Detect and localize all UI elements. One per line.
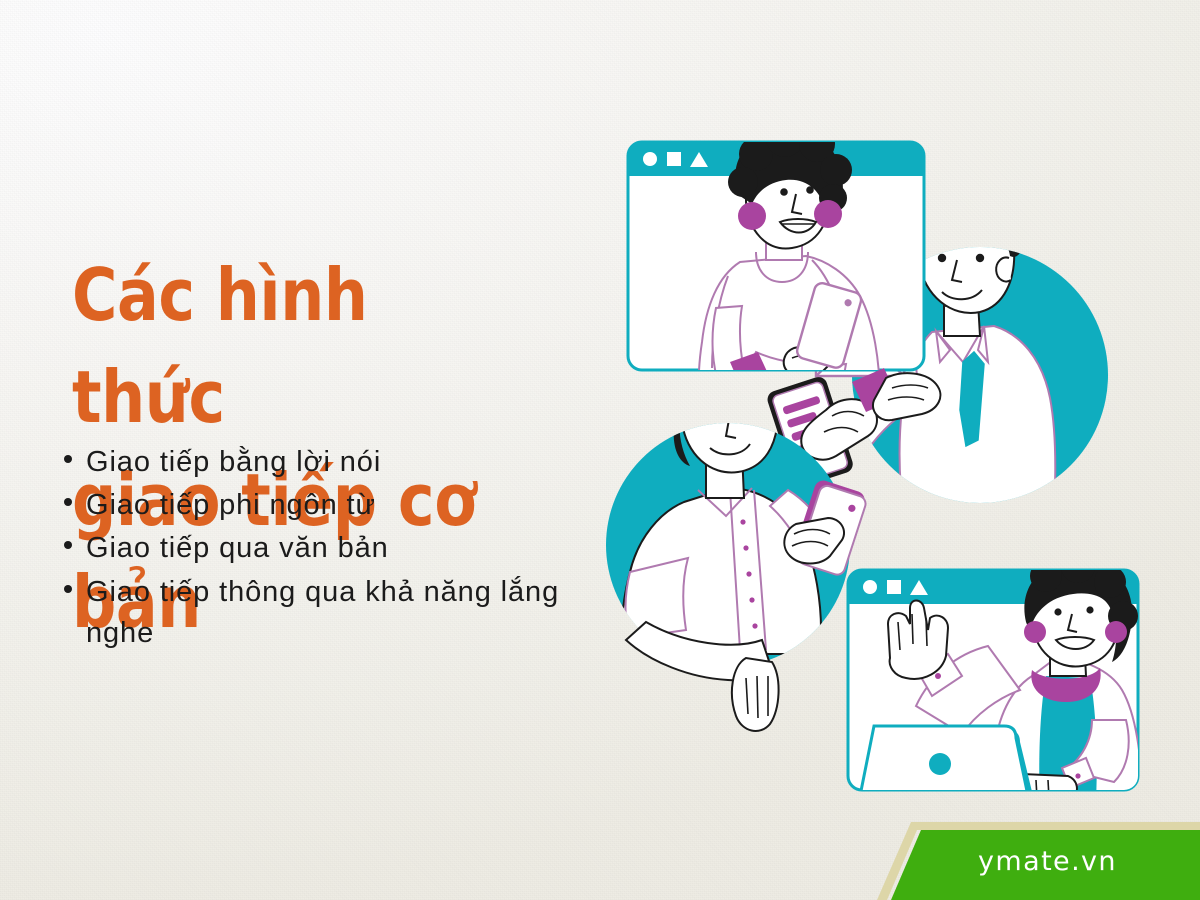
man-right-hair <box>916 186 1023 257</box>
list-item: Giao tiếp phi ngôn từ <box>64 485 594 526</box>
laptop-logo-icon <box>929 753 951 775</box>
list-item-label: Giao tiếp phi ngôn từ <box>86 485 594 526</box>
laptop <box>860 726 1034 800</box>
text-column: Các hình thức giao tiếp cơ bản Giao tiếp… <box>0 0 620 900</box>
bullet-dot-icon <box>64 498 86 506</box>
illustration-group <box>580 110 1200 800</box>
bullet-dot-icon <box>64 541 86 549</box>
panel-window-top <box>628 119 924 402</box>
communication-types-list: Giao tiếp bằng lời nói Giao tiếp phi ngô… <box>64 442 594 656</box>
man-left-hand <box>732 658 779 731</box>
poster-canvas: Các hình thức giao tiếp cơ bản Giao tiếp… <box>0 0 1200 900</box>
list-item: Giao tiếp bằng lời nói <box>64 442 594 483</box>
panel-window-bottom <box>848 549 1142 800</box>
man-right-eye-right <box>976 254 984 262</box>
woman-bottom-earring-right <box>1105 621 1127 643</box>
bullet-dot-icon <box>64 455 86 463</box>
list-item-label: Giao tiếp qua văn bản <box>86 528 594 569</box>
man-left-sleeve <box>626 558 689 638</box>
window-dot-circle-icon[interactable] <box>863 580 877 594</box>
man-right-eye-left <box>938 254 946 262</box>
list-item: Giao tiếp qua văn bản <box>64 528 594 569</box>
window-dot-circle-icon[interactable] <box>643 152 657 166</box>
woman-top-earring-right <box>814 200 842 228</box>
woman-bottom-earring-left <box>1024 621 1046 643</box>
bullet-dot-icon <box>64 585 86 593</box>
man-left-head <box>682 362 778 472</box>
list-item-label: Giao tiếp bằng lời nói <box>86 442 594 483</box>
woman-top-earring-left <box>738 202 766 230</box>
list-item-label: Giao tiếp thông qua khả năng lắng nghe <box>86 572 594 654</box>
window-dot-square-icon[interactable] <box>887 580 901 594</box>
brand-footer[interactable]: ymate.vn <box>855 822 1200 900</box>
brand-label: ymate.vn <box>855 822 1200 900</box>
list-item: Giao tiếp thông qua khả năng lắng nghe <box>64 572 594 654</box>
window-dot-square-icon[interactable] <box>667 152 681 166</box>
